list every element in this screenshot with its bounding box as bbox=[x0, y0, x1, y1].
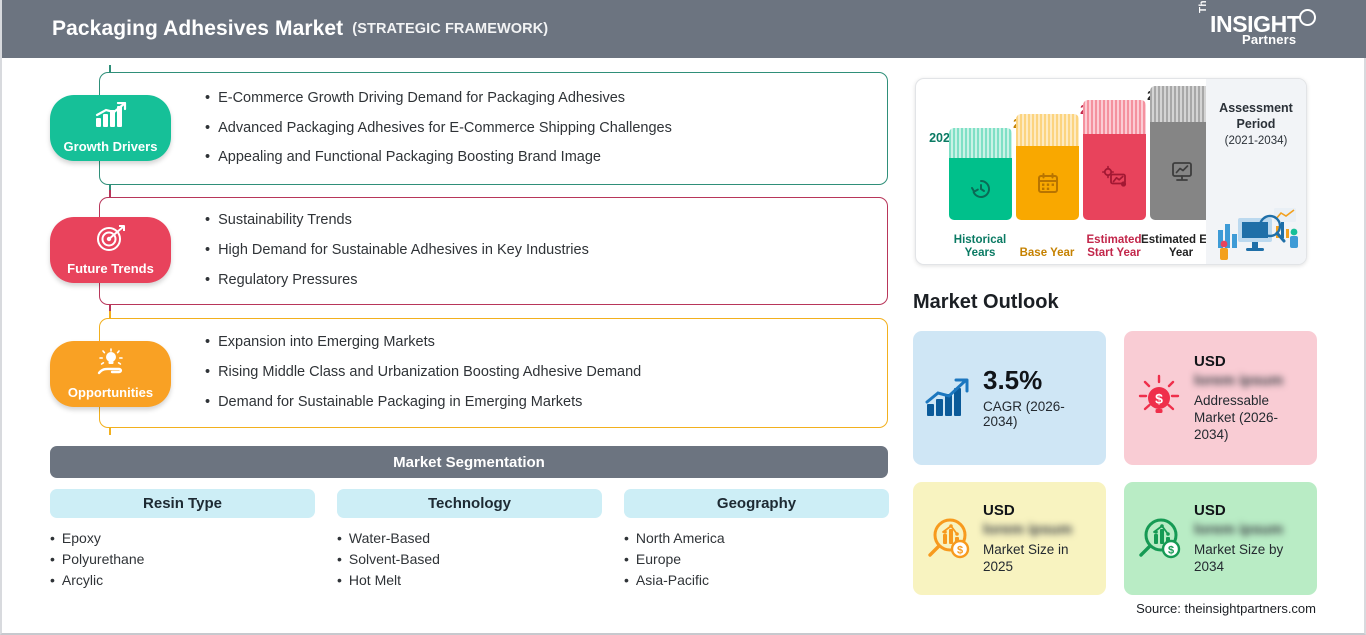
page-title: Packaging Adhesives Market bbox=[52, 17, 343, 41]
badge-label: Growth Drivers bbox=[64, 139, 158, 161]
cagr-value: 3.5% bbox=[983, 367, 1096, 393]
growth-bar-chart-icon bbox=[913, 378, 983, 418]
logo-ring-icon bbox=[1299, 9, 1316, 26]
cagr-label: CAGR (2026-2034) bbox=[983, 399, 1096, 429]
segmentation-column-resin-type: Resin Type Epoxy Polyurethane Arcylic bbox=[50, 489, 315, 591]
card-market-size-2025[interactable]: $ USD lorem ipsum Market Size in 2025 bbox=[913, 482, 1106, 595]
list-item: Hot Melt bbox=[337, 570, 602, 591]
calendar-icon bbox=[1036, 171, 1060, 195]
bar-hatch bbox=[949, 128, 1012, 158]
currency-label: USD bbox=[1194, 353, 1307, 370]
assessment-bar-estimated-start bbox=[1083, 100, 1146, 220]
bar-hatch bbox=[1016, 114, 1079, 146]
card-addressable-market[interactable]: $ USD lorem ipsum Addressable Market (20… bbox=[1124, 331, 1317, 465]
panel-opportunities: Expansion into Emerging Markets Rising M… bbox=[99, 318, 888, 428]
insight-partners-logo: The INSIGHT Partners bbox=[1198, 9, 1316, 51]
page-subtitle: (STRATEGIC FRAMEWORK) bbox=[352, 21, 548, 37]
assessment-period-panel: 2021-2024 Historical Years 2025 bbox=[915, 78, 1307, 265]
svg-text:$: $ bbox=[1155, 391, 1163, 407]
search-bar-chart-dollar-icon: $ bbox=[1124, 516, 1194, 562]
panel-growth-drivers: E-Commerce Growth Driving Demand for Pac… bbox=[99, 72, 888, 185]
badge-label: Future Trends bbox=[67, 261, 154, 283]
card-market-size-2034[interactable]: $ USD lorem ipsum Market Size by 2034 bbox=[1124, 482, 1317, 595]
svg-text:$: $ bbox=[1168, 544, 1174, 556]
card-label: Market Size by 2034 bbox=[1194, 541, 1307, 575]
assessment-bars: 2021-2024 Historical Years 2025 bbox=[922, 79, 1202, 264]
segment-list-resin-type: Epoxy Polyurethane Arcylic bbox=[50, 528, 315, 591]
card-label: Market Size in 2025 bbox=[983, 541, 1096, 575]
badge-growth-drivers[interactable]: Growth Drivers bbox=[50, 95, 171, 161]
list-item: E-Commerce Growth Driving Demand for Pac… bbox=[205, 91, 905, 107]
list-item: Asia-Pacific bbox=[624, 570, 889, 591]
list-item: North America bbox=[624, 528, 889, 549]
source-attribution: Source: theinsightpartners.com bbox=[1136, 601, 1316, 616]
svg-text:$: $ bbox=[957, 544, 963, 556]
analytics-illustration-icon bbox=[1208, 200, 1304, 262]
amount-value-blurred: lorem ipsum bbox=[1194, 373, 1307, 390]
list-item: Water-Based bbox=[337, 528, 602, 549]
segmentation-column-technology: Technology Water-Based Solvent-Based Hot… bbox=[337, 489, 602, 591]
card-cagr[interactable]: 3.5% CAGR (2026-2034) bbox=[913, 331, 1106, 465]
badge-opportunities[interactable]: Opportunities bbox=[50, 341, 171, 407]
list-item: Rising Middle Class and Urbanization Boo… bbox=[205, 365, 905, 381]
assessment-bar-historical bbox=[949, 128, 1012, 220]
amount-value-blurred: lorem ipsum bbox=[1194, 522, 1307, 539]
list-item: Expansion into Emerging Markets bbox=[205, 335, 905, 351]
bar-hatch bbox=[1083, 100, 1146, 134]
list-item: Epoxy bbox=[50, 528, 315, 549]
lightbulb-hand-icon bbox=[93, 348, 129, 383]
search-bar-chart-dollar-icon: $ bbox=[913, 516, 983, 562]
list-item: Arcylic bbox=[50, 570, 315, 591]
bullet-list-opportunities: Expansion into Emerging Markets Rising M… bbox=[205, 319, 905, 427]
segment-header-technology: Technology bbox=[337, 489, 602, 518]
amount-value-blurred: lorem ipsum bbox=[983, 522, 1096, 539]
logo-the-text: The bbox=[1198, 0, 1209, 13]
segmentation-column-geography: Geography North America Europe Asia-Paci… bbox=[624, 489, 889, 591]
list-item: Regulatory Pressures bbox=[205, 273, 905, 289]
assessment-period-range: (2021-2034) bbox=[1206, 135, 1306, 147]
bar-solid bbox=[1150, 122, 1213, 220]
card-label: Addressable Market (2026-2034) bbox=[1194, 392, 1307, 443]
panel-future-trends: Sustainability Trends High Demand for Su… bbox=[99, 197, 888, 305]
assessment-period-summary: Assessment Period (2021-2034) bbox=[1206, 79, 1306, 264]
assessment-period-title: Assessment Period bbox=[1206, 100, 1306, 132]
target-dart-icon bbox=[95, 224, 127, 257]
lightbulb-dollar-icon: $ bbox=[1124, 374, 1194, 422]
currency-label: USD bbox=[983, 502, 1096, 519]
badge-future-trends[interactable]: Future Trends bbox=[50, 217, 171, 283]
segment-header-geography: Geography bbox=[624, 489, 889, 518]
segment-header-resin-type: Resin Type bbox=[50, 489, 315, 518]
bullet-list-growth-drivers: E-Commerce Growth Driving Demand for Pac… bbox=[205, 73, 905, 184]
list-item: High Demand for Sustainable Adhesives in… bbox=[205, 243, 905, 259]
segment-list-technology: Water-Based Solvent-Based Hot Melt bbox=[337, 528, 602, 591]
list-item: Polyurethane bbox=[50, 549, 315, 570]
assessment-bar-estimated-end bbox=[1150, 86, 1213, 220]
list-item: Advanced Packaging Adhesives for E-Comme… bbox=[205, 121, 905, 137]
list-item: Appealing and Functional Packaging Boost… bbox=[205, 150, 905, 166]
list-item: Demand for Sustainable Packaging in Emer… bbox=[205, 395, 905, 411]
market-segmentation-title: Market Segmentation bbox=[50, 446, 888, 478]
segment-list-geography: North America Europe Asia-Pacific bbox=[624, 528, 889, 591]
infographic-page: Packaging Adhesives Market (STRATEGIC FR… bbox=[0, 0, 1366, 635]
list-item: Solvent-Based bbox=[337, 549, 602, 570]
bar-solid bbox=[949, 158, 1012, 220]
list-item: Europe bbox=[624, 549, 889, 570]
bar-hatch bbox=[1150, 86, 1213, 122]
header-bar: Packaging Adhesives Market (STRATEGIC FR… bbox=[2, 0, 1366, 58]
bar-solid bbox=[1016, 146, 1079, 220]
list-item: Sustainability Trends bbox=[205, 213, 905, 229]
badge-label: Opportunities bbox=[68, 385, 153, 407]
logo-partners-text: Partners bbox=[1242, 32, 1296, 47]
history-clock-icon bbox=[969, 177, 993, 201]
bar-solid bbox=[1083, 134, 1146, 220]
assessment-bar-base bbox=[1016, 114, 1079, 220]
market-outlook-title: Market Outlook bbox=[913, 291, 1059, 314]
forecast-gear-icon bbox=[1102, 165, 1128, 189]
bullet-list-future-trends: Sustainability Trends High Demand for Su… bbox=[205, 198, 905, 304]
currency-label: USD bbox=[1194, 502, 1307, 519]
monitor-chart-icon bbox=[1169, 159, 1195, 183]
bar-chart-growth-icon bbox=[94, 102, 128, 133]
